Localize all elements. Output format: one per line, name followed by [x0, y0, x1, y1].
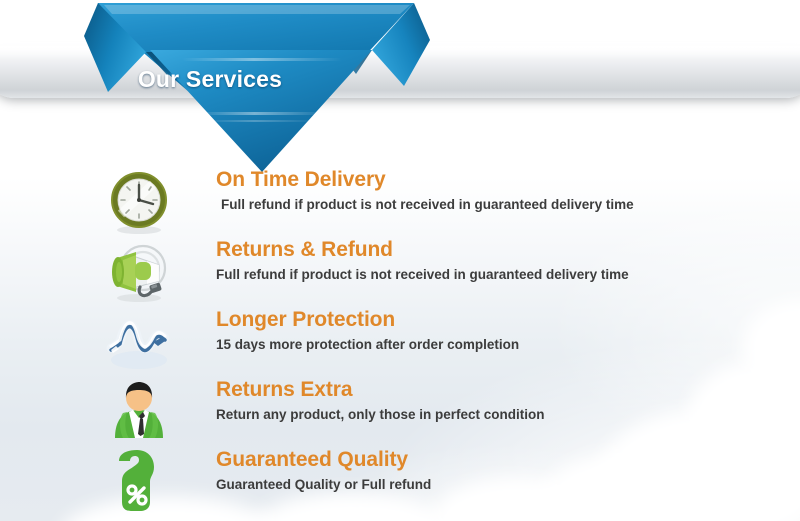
service-text: On Time Delivery Full refund if product … [216, 168, 634, 214]
service-row-guaranteed-quality[interactable]: Guaranteed Quality Guaranteed Quality or… [0, 448, 800, 518]
service-row-returns-refund[interactable]: Returns & Refund Full refund if product … [0, 238, 800, 308]
service-description: Full refund if product is not received i… [216, 265, 629, 284]
services-list: On Time Delivery Full refund if product … [0, 168, 800, 518]
ribbon-front-triangle [150, 50, 372, 172]
service-text: Returns & Refund Full refund if product … [216, 238, 629, 284]
service-title: Returns & Refund [216, 238, 629, 262]
service-description: Full refund if product is not received i… [216, 195, 634, 214]
service-row-longer-protection[interactable]: Longer Protection 15 days more protectio… [0, 308, 800, 378]
service-description: Return any product, only those in perfec… [216, 405, 545, 424]
services-banner-page: Our Services [0, 0, 800, 521]
ribbon-sheen [196, 112, 326, 115]
megaphone-icon [103, 238, 175, 308]
ribbon-sheen [204, 120, 316, 122]
service-title: On Time Delivery [216, 168, 634, 192]
service-title: Guaranteed Quality [216, 448, 431, 472]
service-description: Guaranteed Quality or Full refund [216, 475, 431, 494]
service-text: Returns Extra Return any product, only t… [216, 378, 545, 424]
service-text: Longer Protection 15 days more protectio… [216, 308, 519, 354]
ribbon-sheen [182, 58, 342, 61]
discount-tag-icon [103, 448, 175, 518]
wave-chart-icon [103, 308, 175, 378]
person-icon [103, 378, 175, 448]
service-text: Guaranteed Quality Guaranteed Quality or… [216, 448, 431, 494]
service-title: Longer Protection [216, 308, 519, 332]
service-row-on-time-delivery[interactable]: On Time Delivery Full refund if product … [0, 168, 800, 238]
service-row-returns-extra[interactable]: Returns Extra Return any product, only t… [0, 378, 800, 448]
service-title: Returns Extra [216, 378, 545, 402]
ribbon-top-highlight [104, 5, 410, 14]
service-description: 15 days more protection after order comp… [216, 335, 519, 354]
services-ribbon-banner: Our Services [0, 0, 470, 180]
clock-icon [103, 168, 175, 238]
